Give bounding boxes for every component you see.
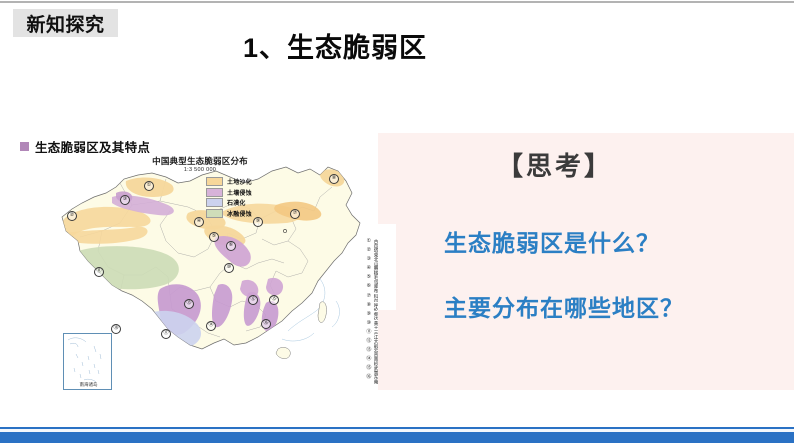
map-marker[interactable]: ⑪ xyxy=(94,267,104,277)
map-marker[interactable]: ① xyxy=(144,181,154,191)
map-title: 中国典型生态脆弱区分布 xyxy=(20,155,380,167)
slide-canvas: 新知探究 1、生态脆弱区 生态脆弱区及其特点 xyxy=(0,0,794,447)
map-marker[interactable]: ⑬ xyxy=(184,299,194,309)
map-marker[interactable]: ⑫ xyxy=(248,295,258,305)
map-marker[interactable]: ⑤ xyxy=(209,232,219,242)
map-index-item: ⑯东南丘陵 xyxy=(365,375,378,384)
map-marker[interactable]: ⑯ xyxy=(261,319,271,329)
page-title: 1、生态脆弱区 xyxy=(243,26,427,65)
index-number: ⑬ xyxy=(365,348,372,353)
index-number: ⑩ xyxy=(365,321,372,326)
map-index-item: ⑥库布齐沙漠 xyxy=(365,284,378,293)
map-marker[interactable]: ⑥ xyxy=(226,241,236,251)
legend-swatch-冰融侵蚀 xyxy=(206,209,223,218)
think-heading: 【思考】 xyxy=(497,146,613,183)
map-index-item: ⑦科尔沁沙地 xyxy=(365,294,378,303)
legend-item: 石漠化 xyxy=(206,198,252,207)
map-marker[interactable]: ⑩ xyxy=(224,263,234,273)
index-number: ⑪ xyxy=(365,330,372,335)
legend-label: 冰融侵蚀 xyxy=(227,209,252,218)
inset-label: 南海诸岛 xyxy=(64,382,113,388)
index-number: ⑫ xyxy=(365,339,372,344)
legend-swatch-土地沙化 xyxy=(206,177,223,186)
section-badge-label: 新知探究 xyxy=(26,10,104,37)
index-number: ⑮ xyxy=(365,366,372,371)
map-index-list: ①古尔班通古特沙漠 ②塔克拉玛干沙漠 ③北山山地 ④腾格里沙漠 ⑤毛乌素沙地 ⑥… xyxy=(365,239,378,384)
map-marker[interactable]: ⑮ xyxy=(269,295,279,305)
map-marker[interactable]: ② xyxy=(67,211,77,221)
legend-swatch-石漠化 xyxy=(206,198,223,207)
legend-swatch-土壤侵蚀 xyxy=(206,188,223,197)
index-number: ③ xyxy=(365,257,372,262)
legend-label: 石漠化 xyxy=(227,198,246,207)
map-marker[interactable]: ⑭ xyxy=(206,321,216,331)
index-number: ⑦ xyxy=(365,294,372,299)
map-marker[interactable]: ⑰ xyxy=(161,329,171,339)
legend-label: 土壤侵蚀 xyxy=(227,188,252,197)
legend-item: 土地沙化 xyxy=(206,177,252,186)
square-bullet-icon xyxy=(20,142,29,151)
map-panel: 生态脆弱区及其特点 xyxy=(12,133,380,391)
map-index-item: ⑧呼伦贝尔沙地 xyxy=(365,303,378,312)
map-scale: 1:3 500 000 xyxy=(20,167,380,173)
legend-item: 冰融侵蚀 xyxy=(206,209,252,218)
map-marker[interactable]: ④ xyxy=(194,217,204,227)
index-number: ⑯ xyxy=(365,375,372,380)
index-number: ② xyxy=(365,248,372,253)
legend-item: 土壤侵蚀 xyxy=(206,188,252,197)
section-badge: 新知探究 xyxy=(13,9,118,37)
index-number: ⑥ xyxy=(365,284,372,289)
map-legend: 土地沙化 土壤侵蚀 石漠化 冰融侵蚀 xyxy=(206,177,252,218)
legend-label: 土地沙化 xyxy=(227,177,252,186)
footer-bar xyxy=(0,432,794,443)
map-marker[interactable]: ⑱ xyxy=(111,324,121,334)
map-marker[interactable]: ⑨ xyxy=(253,217,263,227)
footer-edge xyxy=(0,443,794,447)
index-number: ⑤ xyxy=(365,275,372,280)
top-divider xyxy=(0,1,794,3)
index-number: ① xyxy=(365,239,372,244)
map-marker[interactable]: ⑧ xyxy=(329,174,339,184)
map-marker[interactable]: ③ xyxy=(120,195,130,205)
index-number: ⑧ xyxy=(365,303,372,308)
index-number: ⑭ xyxy=(365,357,372,362)
think-panel-notch xyxy=(378,224,396,310)
think-question-2: 主要分布在哪些地区？ xyxy=(444,289,684,323)
south-china-sea-inset: 南海诸岛 xyxy=(63,333,112,390)
inset-vector xyxy=(64,334,111,389)
index-number: ⑨ xyxy=(365,312,372,317)
map-marker[interactable]: ⑦ xyxy=(290,209,300,219)
index-number: ④ xyxy=(365,266,372,271)
china-fragile-regions-map: 中国典型生态脆弱区分布 1:3 500 000 土地沙化 土壤侵蚀 石漠化 冰 xyxy=(20,153,380,391)
think-question-1: 生态脆弱区是什么？ xyxy=(444,224,660,258)
